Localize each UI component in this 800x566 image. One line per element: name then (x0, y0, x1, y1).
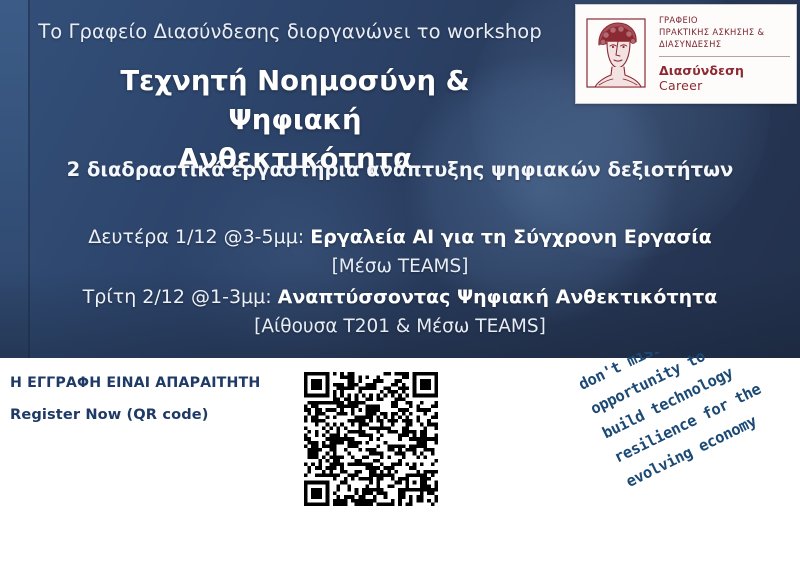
logo-career-greek: Διασύνδεση (659, 63, 790, 78)
hero-subtitle: 2 διαδραστικά εργαστήρια ανάπτυξης ψηφια… (30, 158, 770, 181)
hero-kicker: Το Γραφείο Διασύνδεσης διοργανώνει το wo… (30, 20, 550, 43)
registration-notice-greek: Η ΕΓΓΡΑΦΗ ΕΙΝΑΙ ΑΠΑΡΑΙΤΗΤΗ (10, 374, 280, 392)
logo-org-line-1: ΓΡΑΦΕΙΟ (659, 14, 790, 26)
slogan-lines: don't miss thisopportunity tobuild techn… (574, 352, 778, 495)
logo-org-line-2: ΠΡΑΚΤΙΚΗΣ ΑΣΚΗΣΗΣ & (659, 26, 790, 38)
logo-text-block: ΓΡΑΦΕΙΟ ΠΡΑΚΤΙΚΗΣ ΑΣΚΗΣΗΣ & ΔΙΑΣΥΝΔΕΣΗΣ … (659, 14, 796, 94)
registration-qr-code[interactable] (303, 372, 439, 506)
registration-notice-english: Register Now (QR code) (10, 406, 280, 425)
session-line: Τρίτη 2/12 @1-3μμ: Αναπτύσσοντας Ψηφιακή… (30, 282, 770, 312)
logo-career-english: Career (659, 78, 790, 94)
hero-panel: Το Γραφείο Διασύνδεσης διοργανώνει το wo… (0, 0, 800, 358)
session-2-topic: Αναπτύσσοντας Ψηφιακή Ανθεκτικότητα (278, 286, 718, 308)
session-2-when: Τρίτη 2/12 @1-3μμ: (83, 286, 278, 308)
session-list: Δευτέρα 1/12 @3-5μμ: Εργαλεία ΑΙ για τη … (30, 222, 770, 342)
logo-org-line-3: ΔΙΑΣΥΝΔΕΣΗΣ (659, 38, 790, 50)
classical-head-icon (585, 15, 651, 93)
session-line: Δευτέρα 1/12 @3-5μμ: Εργαλεία ΑΙ για τη … (30, 222, 770, 252)
slogan-block: don't miss thisopportunity tobuild techn… (560, 352, 800, 566)
session-1-when: Δευτέρα 1/12 @3-5μμ: (88, 226, 310, 248)
poster-canvas: Το Γραφείο Διασύνδεσης διοργανώνει το wo… (0, 0, 800, 566)
session-2-venue: [Αίθουσα Τ201 & Μέσω TEAMS] (30, 312, 770, 342)
session-1-venue: [Μέσω TEAMS] (30, 252, 770, 282)
registration-call-to-action: Η ΕΓΓΡΑΦΗ ΕΙΝΑΙ ΑΠΑΡΑΙΤΗΤΗ Register Now … (10, 374, 280, 425)
logo-divider (659, 56, 790, 57)
page-title-line-1: Τεχνητή Νοημοσύνη & Ψηφιακή (60, 62, 530, 140)
session-1-topic: Εργαλεία ΑΙ για τη Σύγχρονη Εργασία (310, 226, 712, 248)
organization-logo-card: ΓΡΑΦΕΙΟ ΠΡΑΚΤΙΚΗΣ ΑΣΚΗΣΗΣ & ΔΙΑΣΥΝΔΕΣΗΣ … (575, 4, 797, 104)
